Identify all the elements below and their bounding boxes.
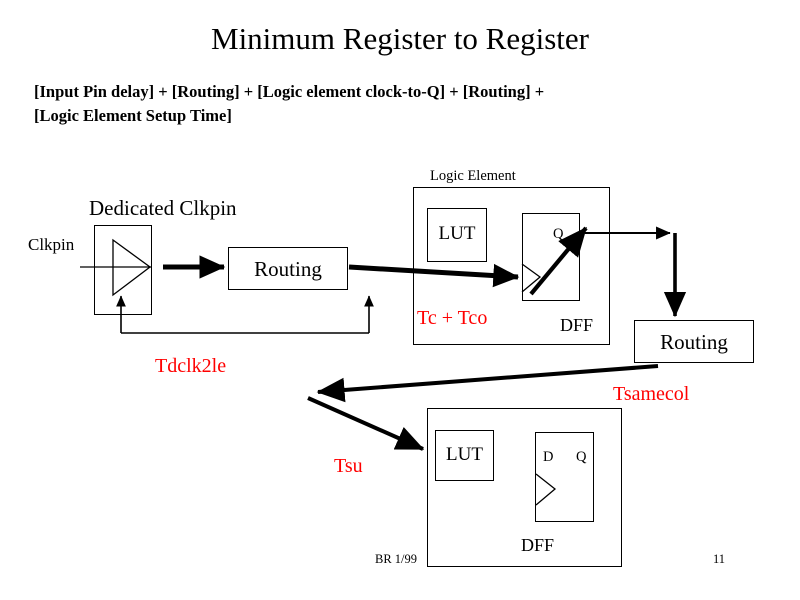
dff-bottom-label: DFF	[521, 536, 554, 554]
dff-bottom-q-label: Q	[576, 450, 586, 465]
logic-element-label: Logic Element	[430, 169, 516, 184]
dff-top-label: DFF	[560, 316, 593, 334]
lut-box-bottom-label: LUT	[436, 444, 493, 466]
routing-box-2: Routing	[634, 320, 754, 363]
routing-box-1: Routing	[228, 247, 348, 290]
slide-canvas: Minimum Register to Register [Input Pin …	[0, 0, 800, 600]
dff-bottom-d-label: D	[543, 450, 553, 465]
page-title: Minimum Register to Register	[0, 20, 800, 58]
page-number: 11	[713, 553, 725, 566]
timing-label-tsamecol: Tsamecol	[613, 384, 689, 404]
arrow-tsamecol	[318, 366, 658, 392]
arrow-tsu	[308, 398, 423, 449]
footer-left: BR 1/99	[375, 553, 417, 566]
dff-top-q-label: Q	[553, 227, 563, 242]
lut-box-top: LUT	[427, 208, 487, 262]
lut-box-top-label: LUT	[428, 223, 486, 245]
lut-box-bottom: LUT	[435, 430, 494, 481]
dedicated-clkpin-label: Dedicated Clkpin	[89, 198, 237, 219]
dff-box-bottom	[535, 432, 594, 522]
routing-box-1-label: Routing	[229, 257, 347, 282]
timing-label-tsu: Tsu	[334, 456, 363, 476]
dff-box-top	[522, 213, 580, 301]
dedicated-clkpin-box	[94, 225, 152, 315]
formula-line-1: [Input Pin delay] + [Routing] + [Logic e…	[34, 80, 754, 104]
routing-box-2-label: Routing	[635, 330, 753, 355]
formula-text: [Input Pin delay] + [Routing] + [Logic e…	[34, 80, 754, 128]
clkpin-input-label: Clkpin	[28, 236, 74, 253]
formula-line-2: [Logic Element Setup Time]	[34, 104, 754, 128]
timing-label-tdclk2le: Tdclk2le	[155, 356, 226, 376]
